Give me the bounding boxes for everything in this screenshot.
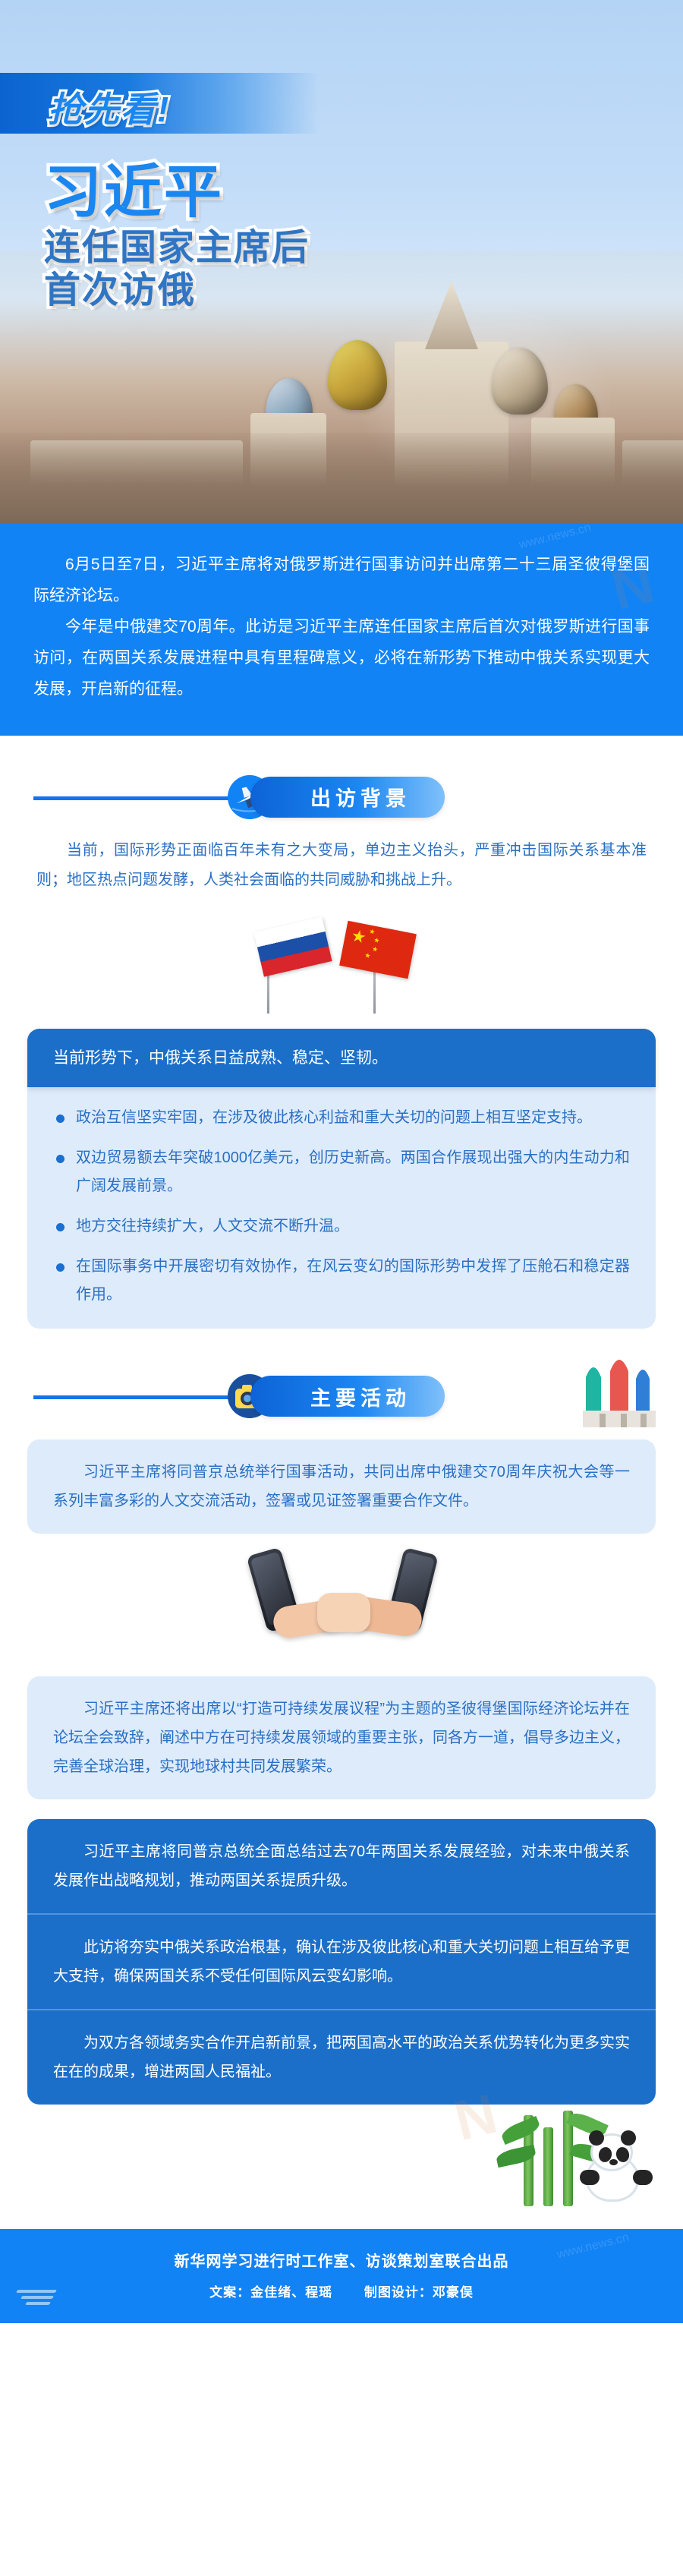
- hero-title-block: 习近平 连任国家主席后 首次访俄: [44, 164, 644, 311]
- hero-title-line2: 连任国家主席后: [44, 228, 644, 269]
- panda-bamboo-illustration: N: [0, 2108, 683, 2221]
- section-rule: [33, 796, 241, 800]
- statement-2: 此访将夯实中俄关系政治根基，确认在涉及彼此核心和重大关切问题上相互给予更大支持，…: [27, 1913, 656, 2009]
- flags-illustration: ★ ★ ★ ★ ★: [0, 904, 683, 1018]
- hand-grip-icon: [317, 1593, 370, 1632]
- intro-paragraph-1: 6月5日至7日，习近平主席将对俄罗斯进行国事访问并出席第二十三届圣彼得堡国际经济…: [33, 550, 650, 612]
- activities-panel-1: 习近平主席将同普京总统举行国事活动，共同出席中俄建交70周年庆祝大会等一系列丰富…: [27, 1439, 656, 1534]
- list-item: 双边贸易额去年突破1000亿美元，创历史新高。两国合作展现出强大的内生动力和广阔…: [53, 1144, 630, 1200]
- section-title-activities: 主要活动: [250, 1376, 445, 1417]
- list-item: 政治互信坚实牢固，在涉及彼此核心利益和重大关切的问题上相互坚定支持。: [53, 1104, 630, 1132]
- list-item: 在国际事务中开展密切有效协作，在风云变幻的国际形势中发挥了压舱石和稳定器作用。: [53, 1253, 630, 1309]
- infographic-page: 抢先看! 习近平 连任国家主席后 首次访俄 www.news.cn N 6月5日…: [0, 0, 683, 2576]
- activities-panel-2: 习近平主席还将出席以“打造可持续发展议程”为主题的圣彼得堡国际经济论坛并在论坛全…: [27, 1676, 656, 1799]
- section-rule: [33, 1395, 241, 1399]
- section-header-background: 出访背景: [0, 761, 683, 827]
- body-content: 出访背景 当前，国际形势正面临百年未有之大变局，单边主义抬头，严重冲击国际关系基…: [0, 761, 683, 2230]
- wave-logo-icon: [17, 2290, 56, 2310]
- plaza-ground: [0, 433, 683, 524]
- section-header-activities: 主要活动: [0, 1361, 683, 1426]
- section-title-label: 主要活动: [310, 1382, 411, 1411]
- statement-1: 习近平主席将同普京总统全面总结过去70年两国关系发展经验，对未来中俄关系发展作出…: [27, 1819, 656, 1913]
- intro-paragraph-2: 今年是中俄建交70周年。此访是习近平主席连任国家主席后首次对俄罗斯进行国事访问，…: [33, 612, 650, 705]
- watermark-url: www.news.cn: [518, 522, 592, 553]
- preview-badge-label: 抢先看!: [48, 82, 170, 132]
- intro-block: www.news.cn N 6月5日至7日，习近平主席将对俄罗斯进行国事访问并出…: [0, 524, 683, 736]
- footer-producer-line: 新华网学习进行时工作室、访谈策划室联合出品: [0, 2249, 683, 2271]
- background-bullet-panel: 政治互信坚实牢固，在涉及彼此核心利益和重大关切的问题上相互坚定支持。 双边贸易额…: [27, 1087, 656, 1329]
- footer-designer: 制图设计：邓豪俣: [364, 2285, 474, 2300]
- footer-credits-line: 文案：金佳绪、程瑶 制图设计：邓豪俣: [0, 2281, 683, 2300]
- preview-badge-banner: 抢先看!: [0, 73, 319, 134]
- background-bullet-list: 政治互信坚实牢固，在涉及彼此核心利益和重大关切的问题上相互坚定支持。 双边贸易额…: [53, 1104, 630, 1309]
- background-callout-text: 当前形势下，中俄关系日益成熟、稳定、坚韧。: [53, 1049, 388, 1067]
- russia-flag-icon: [253, 916, 332, 976]
- footer-copywriter: 文案：金佳绪、程瑶: [209, 2285, 332, 2300]
- china-flag-icon: ★ ★ ★ ★ ★: [339, 920, 417, 978]
- statement-3: 为双方各领域务实合作开启新前景，把两国高水平的政治关系优势转化为更多实实在在的成…: [27, 2009, 656, 2105]
- section-title-background: 出访背景: [250, 777, 445, 818]
- hero-section: 抢先看! 习近平 连任国家主席后 首次访俄: [0, 0, 683, 524]
- cathedral-decoration-icon: [556, 1341, 669, 1432]
- list-item: 地方交往持续扩大，人文交流不断升温。: [53, 1212, 630, 1241]
- background-callout: 当前形势下，中俄关系日益成熟、稳定、坚韧。: [27, 1029, 656, 1088]
- hero-title-line1: 习近平: [44, 164, 644, 222]
- section-title-label: 出访背景: [310, 782, 411, 812]
- handshake-illustration: [0, 1529, 683, 1673]
- background-paragraph: 当前，国际形势正面临百年未有之大变局，单边主义抬头，严重冲击国际关系基本准则；地…: [0, 827, 683, 901]
- hero-title-line3: 首次访俄: [44, 270, 644, 311]
- footer: www.news.cn 新华网学习进行时工作室、访谈策划室联合出品 文案：金佳绪…: [0, 2229, 683, 2323]
